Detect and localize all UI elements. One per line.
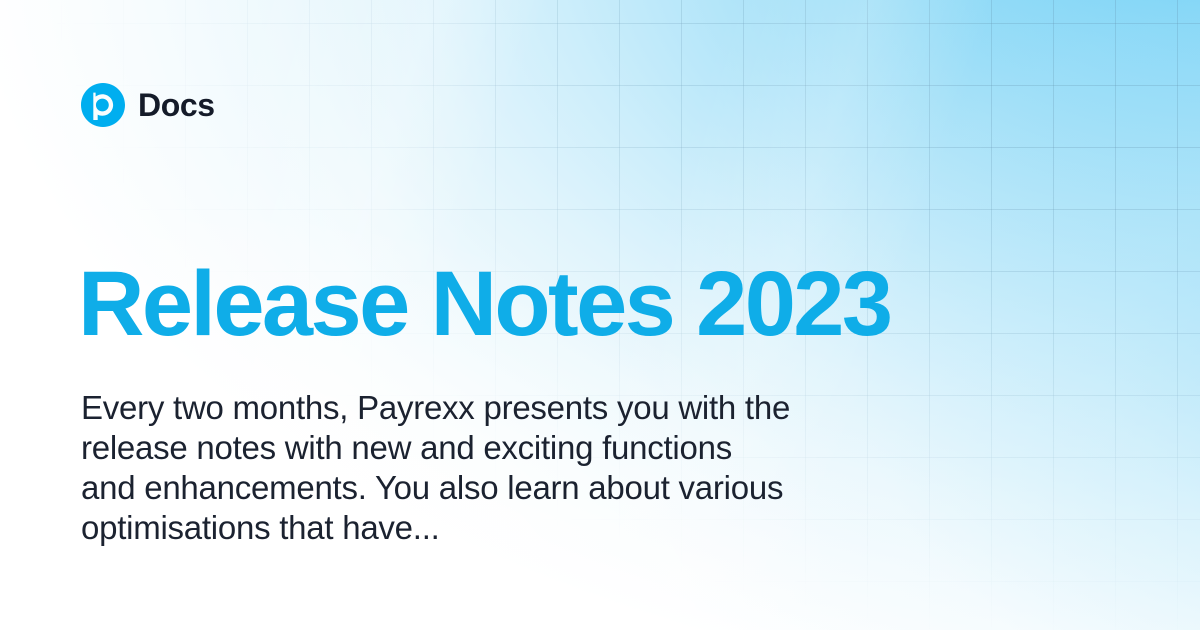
page-title: Release Notes 2023 [78, 258, 890, 350]
card-content: Docs Release Notes 2023 Every two months… [0, 0, 1200, 630]
summary-line: optimisations that have... [81, 508, 901, 548]
brand-name: Docs [138, 89, 215, 121]
page-summary: Every two months, Payrexx presents you w… [81, 388, 901, 548]
summary-line: release notes with new and exciting func… [81, 428, 901, 468]
og-card: Docs Release Notes 2023 Every two months… [0, 0, 1200, 630]
payrexx-p-logo-icon [81, 83, 125, 127]
brand-lockup: Docs [81, 82, 215, 128]
summary-line: Every two months, Payrexx presents you w… [81, 388, 901, 428]
summary-line: and enhancements. You also learn about v… [81, 468, 901, 508]
